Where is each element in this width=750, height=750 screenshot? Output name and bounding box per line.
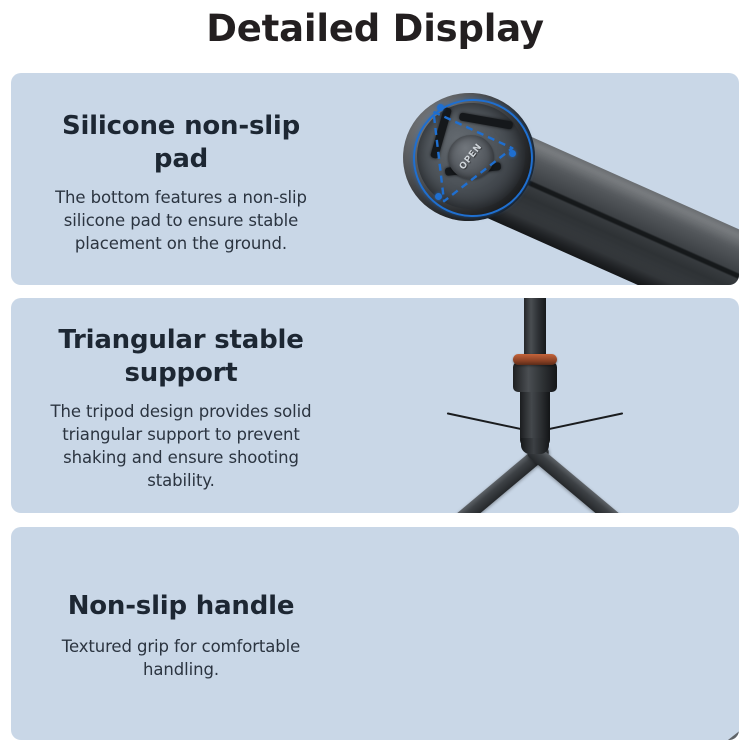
handle-texture-pattern bbox=[406, 659, 739, 740]
tripod-end-cap-photo: OPEN bbox=[341, 73, 739, 285]
feature-text-block: Triangular stable support The tripod des… bbox=[11, 298, 351, 513]
annotation-vertex-dot-icon bbox=[509, 150, 516, 157]
feature-heading: Silicone non-slip pad bbox=[33, 110, 329, 176]
page-title: Detailed Display bbox=[0, 6, 750, 52]
textured-handle-photo bbox=[341, 527, 739, 740]
tripod-leg-hub bbox=[513, 362, 557, 392]
handle-body-shape bbox=[406, 659, 739, 740]
tripod-illustration bbox=[341, 298, 739, 513]
tripod-center-column bbox=[520, 386, 550, 446]
feature-description: Textured grip for comfortable handling. bbox=[33, 635, 329, 681]
handle-seam-line bbox=[435, 691, 739, 740]
annotation-vertex-dot-icon bbox=[437, 104, 444, 111]
handle-highlight-line bbox=[434, 674, 739, 740]
product-detail-page: Detailed Display Silicone non-slip pad T… bbox=[0, 0, 750, 750]
annotation-triangle-icon bbox=[406, 91, 537, 220]
handle-edge-line bbox=[435, 698, 739, 740]
feature-panel-triangular-support: Triangular stable support The tripod des… bbox=[11, 298, 739, 513]
tripod-center-pole bbox=[524, 298, 546, 360]
feature-heading: Non-slip handle bbox=[68, 590, 295, 623]
tripod-legs-photo bbox=[341, 298, 739, 513]
feature-text-block: Non-slip handle Textured grip for comfor… bbox=[11, 527, 351, 740]
tripod-leg-right bbox=[524, 442, 670, 513]
feature-description: The bottom features a non-slip silicone … bbox=[33, 186, 329, 255]
feature-panel-non-slip-handle: Non-slip handle Textured grip for comfor… bbox=[11, 527, 739, 740]
feature-description: The tripod design provides solid triangu… bbox=[33, 400, 329, 492]
annotation-vertex-dot-icon bbox=[435, 193, 442, 200]
end-cap-illustration: OPEN bbox=[341, 73, 739, 285]
feature-panel-silicone-pad: Silicone non-slip pad The bottom feature… bbox=[11, 73, 739, 285]
tripod-accent-ring bbox=[513, 354, 557, 365]
handle-illustration bbox=[341, 527, 739, 740]
feature-heading: Triangular stable support bbox=[33, 324, 329, 390]
feature-text-block: Silicone non-slip pad The bottom feature… bbox=[11, 73, 351, 285]
tripod-center-foot bbox=[521, 438, 549, 454]
